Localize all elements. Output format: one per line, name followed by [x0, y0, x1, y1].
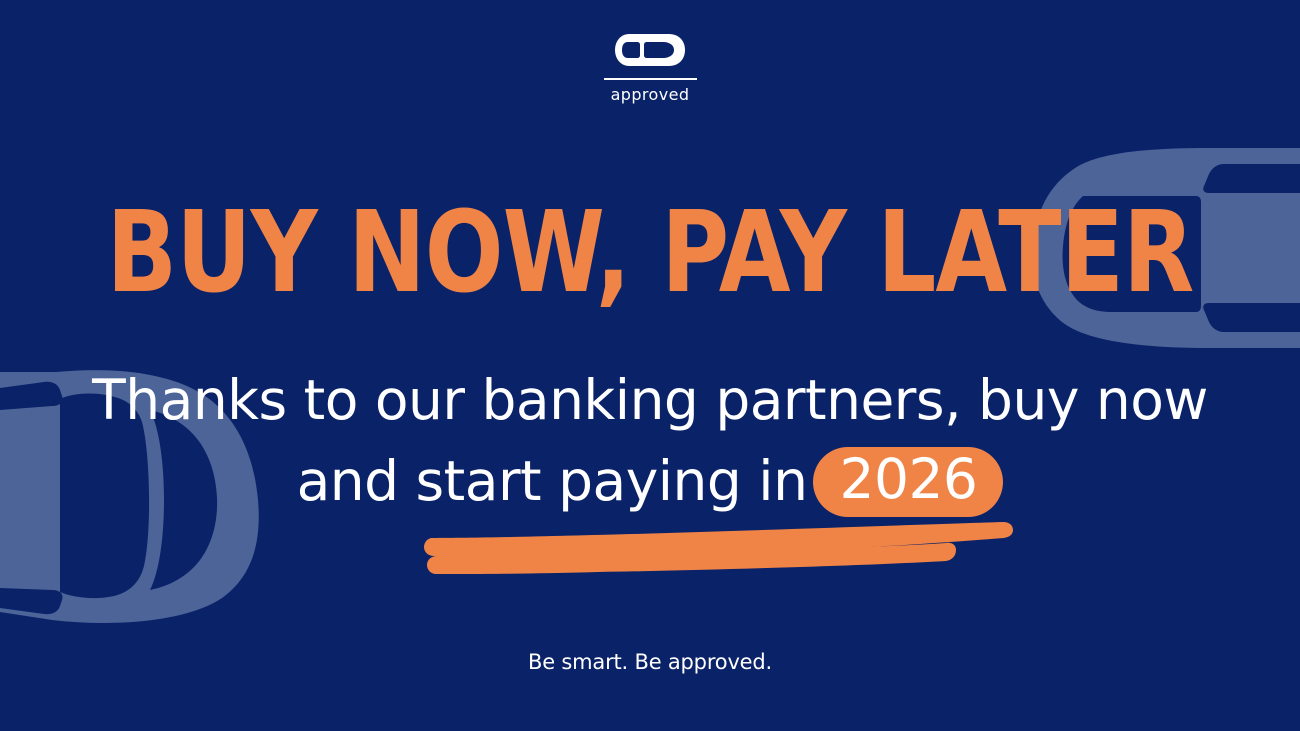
car-top-view-icon	[613, 30, 687, 70]
logo-divider-rule	[604, 78, 697, 80]
tagline: Be smart. Be approved.	[0, 652, 1300, 673]
highlight-year-pill: 2026	[813, 447, 1003, 517]
subheadline-line-2-text: and start paying in	[297, 441, 808, 522]
brand-logo: approved	[0, 30, 1300, 103]
logo-wordmark: approved	[611, 87, 690, 103]
promotional-banner: approved BUY NOW, PAY LATER Thanks to ou…	[0, 0, 1300, 731]
headline: BUY NOW, PAY LATER	[52, 196, 1248, 310]
subheadline-line-1: Thanks to our banking partners, buy now	[0, 360, 1300, 441]
hand-drawn-underline	[418, 512, 1018, 584]
subheadline-line-2: and start paying in 2026	[0, 441, 1300, 522]
subheadline: Thanks to our banking partners, buy now …	[0, 360, 1300, 523]
